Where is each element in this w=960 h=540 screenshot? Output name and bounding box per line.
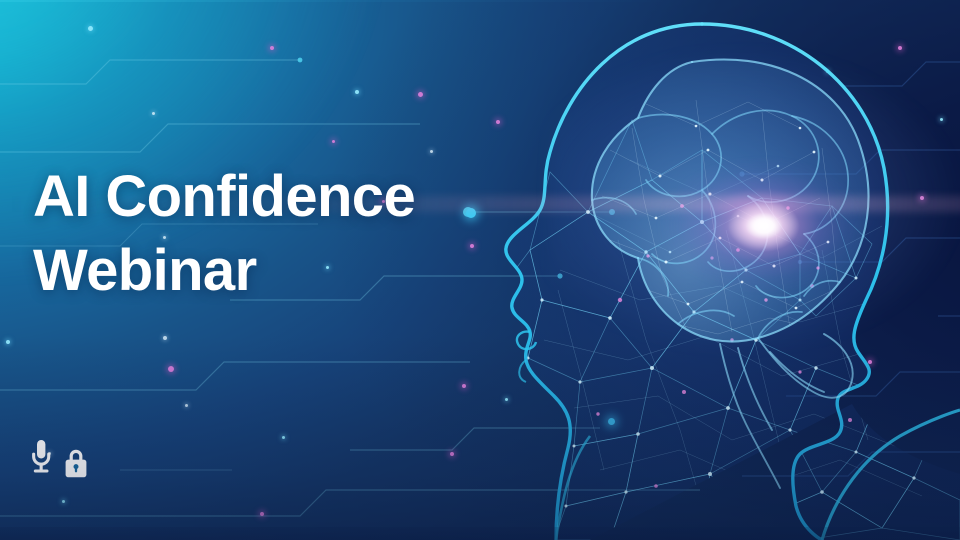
webinar-title-slide: AI Confidence Webinar bbox=[0, 0, 960, 540]
bottom-vignette bbox=[0, 0, 960, 540]
